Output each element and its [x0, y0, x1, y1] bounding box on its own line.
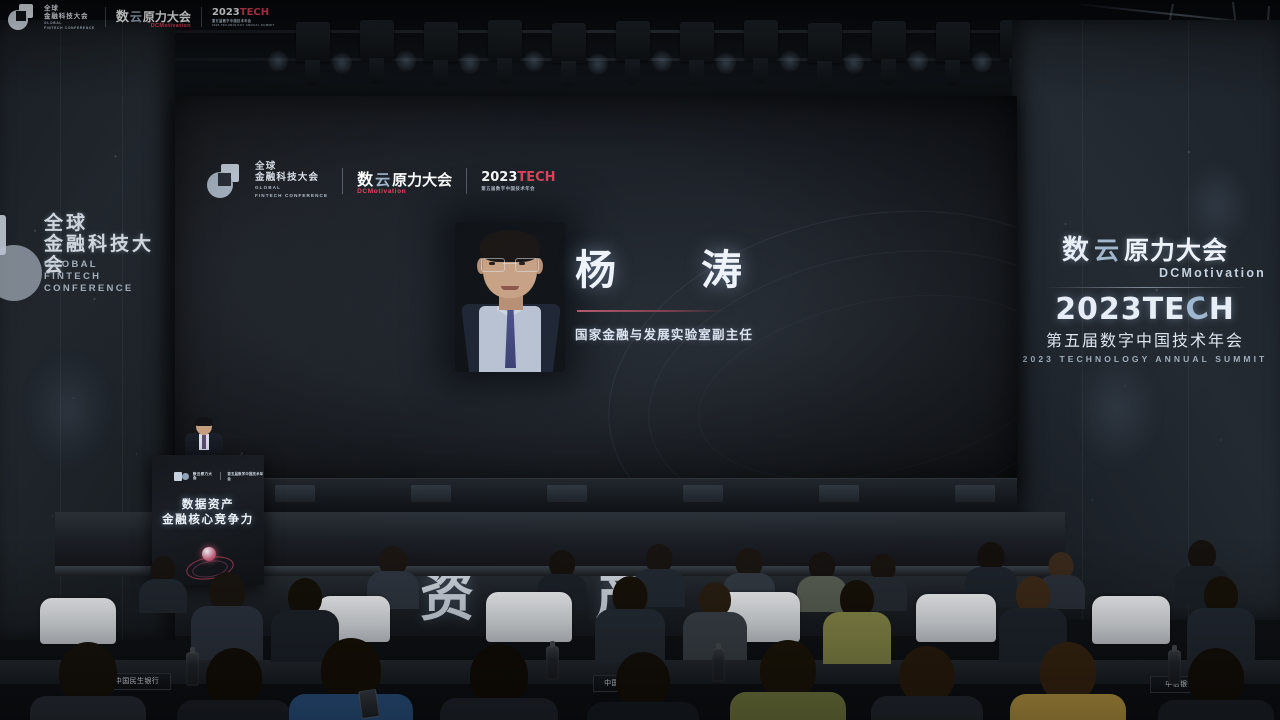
overlay-fintech-text: 全球 金融科技大会 GLOBAL FINTECH CONFERENCE [44, 4, 95, 30]
audience-chair [1092, 596, 1170, 644]
audience-member [1192, 576, 1250, 658]
right-brand-shu: 数 [1062, 228, 1090, 267]
audience-member [196, 572, 258, 656]
tech-swirl-icon: C [1183, 292, 1212, 328]
right-brand-tech-prefix: TE [1143, 292, 1186, 327]
conference-stage-screenshot: 全球 金融科技大会 GLOBAL FINTECH CONFERENCE 数 云 … [0, 0, 1280, 720]
right-brand-subtitle-cn: 第五届数字中国技术年会 [1020, 327, 1270, 351]
right-brand-divider [1043, 287, 1248, 288]
audience-area: 中国民生银行 中国进出口银行 中信银行 [0, 520, 1280, 720]
audience-member-front [186, 648, 282, 720]
right-brand-tech-suffix: H [1209, 292, 1235, 327]
audience-member-front [300, 638, 402, 720]
right-brand-title: 数 云 原力大会 [1020, 228, 1270, 267]
podium-headline-line1: 数据资产 [152, 497, 264, 512]
left-wall-brand: 全球 金融科技大会 GLOBAL FINTECH CONFERENCE [4, 205, 172, 320]
podium-logo: 数云原力大会 第五届数字中国技术年会 [174, 471, 264, 481]
audience-member [688, 582, 742, 658]
overlay-year-block: 2023TECH 第五届数字中国技术年会 2023 TECHNOLOGY ANN… [212, 7, 275, 27]
audience-member-front [880, 646, 974, 720]
audience-member [142, 556, 184, 612]
audience-member-front [1020, 642, 1116, 720]
audience-member [600, 576, 660, 658]
audience-member [828, 580, 886, 660]
led-screen-base-trim [175, 478, 1017, 512]
audience-member-front [596, 652, 690, 720]
right-brand-year: 2023 [1055, 292, 1143, 327]
left-brand-en: GLOBAL FINTECH CONFERENCE [44, 259, 172, 295]
main-led-screen: 全球 金融科技大会 GLOBAL FINTECH CONFERENCE 数 云 … [175, 96, 1017, 486]
audience-member-front [1168, 648, 1264, 720]
overlay-dcmotivation-logo: 数 云 原力大会 DCMotivation [116, 6, 191, 29]
podium-mark-icon [174, 472, 182, 481]
right-brand-yun: 云 [1094, 231, 1120, 267]
audience-chair [486, 592, 572, 642]
water-bottle [712, 648, 725, 682]
overlay-fintech-mark-icon [8, 4, 34, 30]
right-wall-brand: 数 云 原力大会 DCMotivation 2023TECH 第五届数字中国技术… [1020, 228, 1270, 348]
audience-member-front [40, 642, 136, 720]
podium-logo-sub: 第五届数字中国技术年会 [227, 471, 264, 481]
smartphone [358, 689, 380, 719]
audience-chair [40, 598, 116, 644]
audience-member-front [450, 644, 548, 720]
right-brand-en: DCMotivation [1020, 266, 1270, 280]
right-brand-tech: 2023TECH [1020, 294, 1270, 326]
audience-member-front [740, 640, 836, 720]
audience-chair [916, 594, 996, 642]
podium-mark-circle-icon [182, 473, 188, 480]
broadcast-overlay-logos: 全球 金融科技大会 GLOBAL FINTECH CONFERENCE 数 云 … [8, 4, 274, 30]
fintech-mark-icon [0, 215, 48, 301]
podium-logo-cn: 数云原力大会 [193, 472, 215, 481]
right-brand-subtitle-en: 2023 TECHNOLOGY ANNUAL SUMMIT [1020, 354, 1270, 364]
right-brand-yuanli: 原力大会 [1124, 231, 1228, 267]
